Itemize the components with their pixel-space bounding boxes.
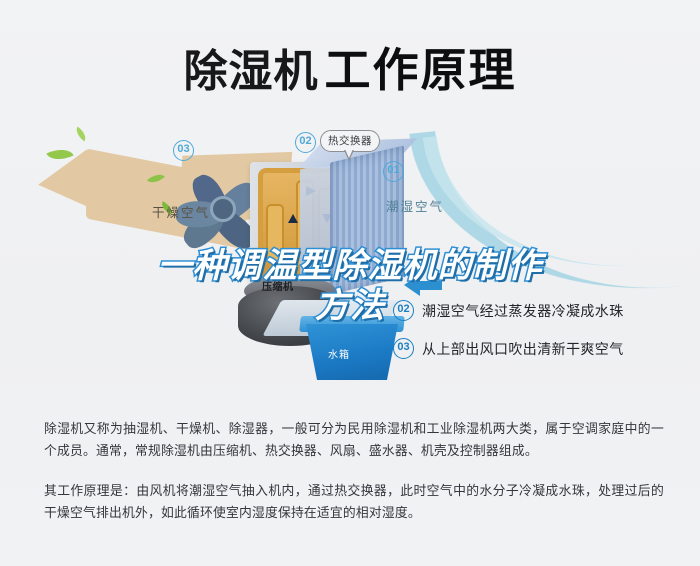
step-badge-02: 02 xyxy=(295,132,316,153)
legend-label: 从上部出风口吹出清新干爽空气 xyxy=(422,339,624,359)
fan-hub-icon xyxy=(210,196,236,222)
page-title-primary: 除湿机 xyxy=(184,46,319,97)
infographic-page: 除湿机工作原理 xyxy=(0,0,700,566)
dry-air-arrow-head-icon xyxy=(35,149,93,214)
callout-pointer-icon xyxy=(344,150,354,161)
legend-badge-03: 03 xyxy=(393,338,414,359)
leaf-icon xyxy=(73,127,89,142)
flow-arrow-up-icon xyxy=(288,214,298,223)
legend-badge-02: 02 xyxy=(393,300,414,321)
page-title-secondary: 工作原理 xyxy=(325,43,517,97)
legend-item: 02 潮湿空气经过蒸发器冷凝成水珠 xyxy=(393,300,624,321)
humid-air-label: 潮湿空气 xyxy=(386,196,444,215)
legend-label: 潮湿空气经过蒸发器冷凝成水珠 xyxy=(422,301,624,321)
step-badge-03: 03 xyxy=(173,140,194,161)
article-body: 除湿机又称为抽湿机、干燥机、除湿器，一般可分为民用除湿机和工业除湿机两大类，属于… xyxy=(44,418,664,524)
legend-item: 03 从上部出风口吹出清新干爽空气 xyxy=(393,338,624,359)
page-title: 除湿机工作原理 xyxy=(0,34,700,100)
water-tank-label: 水箱 xyxy=(328,346,350,361)
article-paragraph-1: 除湿机又称为抽湿机、干燥机、除湿器，一般可分为民用除湿机和工业除湿机两大类，属于… xyxy=(44,418,664,462)
heat-exchanger-side-icon xyxy=(300,163,330,290)
compressor-label: 压缩机 xyxy=(262,278,294,293)
dry-air-label: 干燥空气 xyxy=(152,202,210,221)
water-tank-icon xyxy=(306,324,398,380)
refrigerant-tube-icon xyxy=(266,204,284,262)
article-paragraph-2: 其工作原理是：由风机将潮湿空气抽入机内，通过热交换器，此时空气中的水分子冷凝成水… xyxy=(44,480,664,524)
humid-air-arrow-shaft-icon xyxy=(418,281,442,290)
step-badge-01: 01 xyxy=(383,161,404,182)
legend-list: 02 潮湿空气经过蒸发器冷凝成水珠 03 从上部出风口吹出清新干爽空气 xyxy=(393,300,624,376)
